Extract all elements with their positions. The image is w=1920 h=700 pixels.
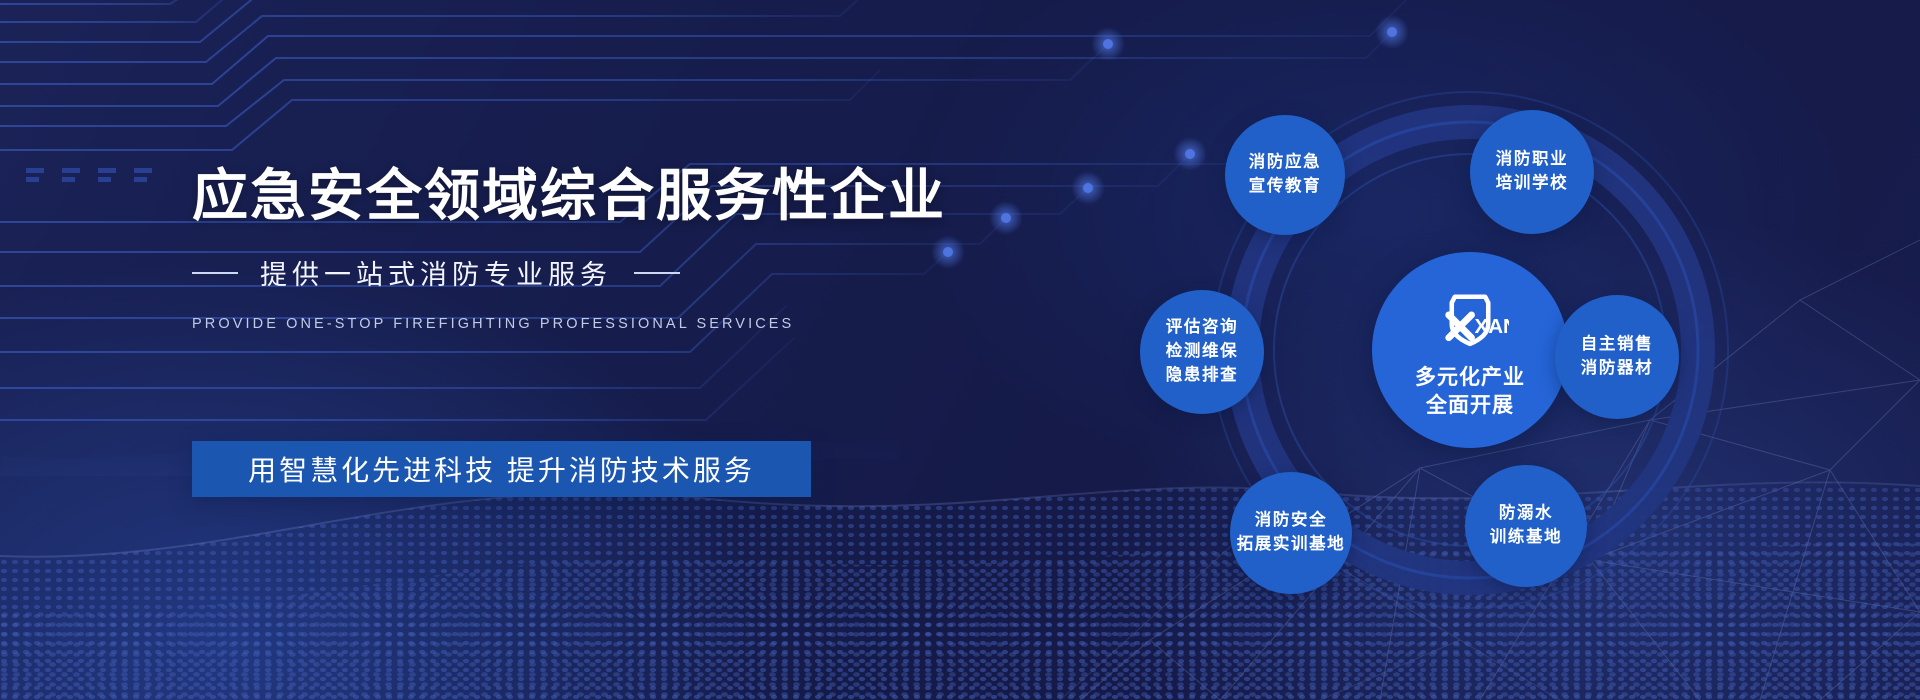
node-line-2: 训练基地	[1490, 526, 1562, 550]
diagram-node-left[interactable]: 评估咨询 检测维保 隐患排查	[1140, 290, 1264, 414]
node-line-1: 评估咨询	[1166, 316, 1238, 340]
hero-copy: 应急安全领域综合服务性企业 提供一站式消防专业服务 PROVIDE ONE-ST…	[192, 166, 892, 332]
diagram-node-bottom-right[interactable]: 防溺水 训练基地	[1465, 465, 1587, 587]
subtitle-text: 提供一站式消防专业服务	[260, 253, 612, 292]
node-line-1: 消防职业	[1496, 148, 1568, 172]
diagram-node-right[interactable]: 自主销售 消防器材	[1555, 295, 1679, 419]
node-line-2: 拓展实训基地	[1237, 533, 1346, 557]
node-line-1: 消防安全	[1255, 509, 1327, 533]
services-diagram: XAN 多元化产业 全面开展 消防应急 宣传教育 消防职业 培训学校 评估咨询 …	[1100, 60, 1840, 640]
logo-text: XAN	[1475, 315, 1509, 338]
rule-left-icon	[192, 272, 238, 274]
node-line-2: 消防器材	[1581, 357, 1653, 381]
center-line-2: 全面开展	[1426, 392, 1514, 420]
subtitle-row: 提供一站式消防专业服务	[192, 253, 892, 292]
node-line-1: 消防应急	[1249, 151, 1321, 175]
center-line-1: 多元化产业	[1415, 364, 1525, 392]
english-subtitle: PROVIDE ONE-STOP FIREFIGHTING PROFESSION…	[192, 316, 892, 332]
page-title: 应急安全领域综合服务性企业	[192, 166, 892, 225]
rule-right-icon	[634, 272, 680, 274]
cta-button-label: 用智慧化先进科技 提升消防技术服务	[248, 449, 755, 489]
shield-icon: XAN	[1431, 280, 1509, 356]
node-line-3: 隐患排查	[1166, 364, 1238, 388]
diagram-node-top-right[interactable]: 消防职业 培训学校	[1470, 110, 1594, 234]
diagram-center-node[interactable]: XAN 多元化产业 全面开展	[1372, 252, 1568, 448]
node-line-2: 宣传教育	[1249, 175, 1321, 199]
node-line-2: 培训学校	[1496, 172, 1568, 196]
hero-banner: 应急安全领域综合服务性企业 提供一站式消防专业服务 PROVIDE ONE-ST…	[0, 0, 1920, 700]
cta-button[interactable]: 用智慧化先进科技 提升消防技术服务	[192, 441, 811, 497]
diagram-node-bottom-left[interactable]: 消防安全 拓展实训基地	[1230, 472, 1352, 594]
diagram-node-top-left[interactable]: 消防应急 宣传教育	[1225, 115, 1345, 235]
node-line-2: 检测维保	[1166, 340, 1238, 364]
node-line-1: 防溺水	[1499, 502, 1553, 526]
node-line-1: 自主销售	[1581, 333, 1653, 357]
